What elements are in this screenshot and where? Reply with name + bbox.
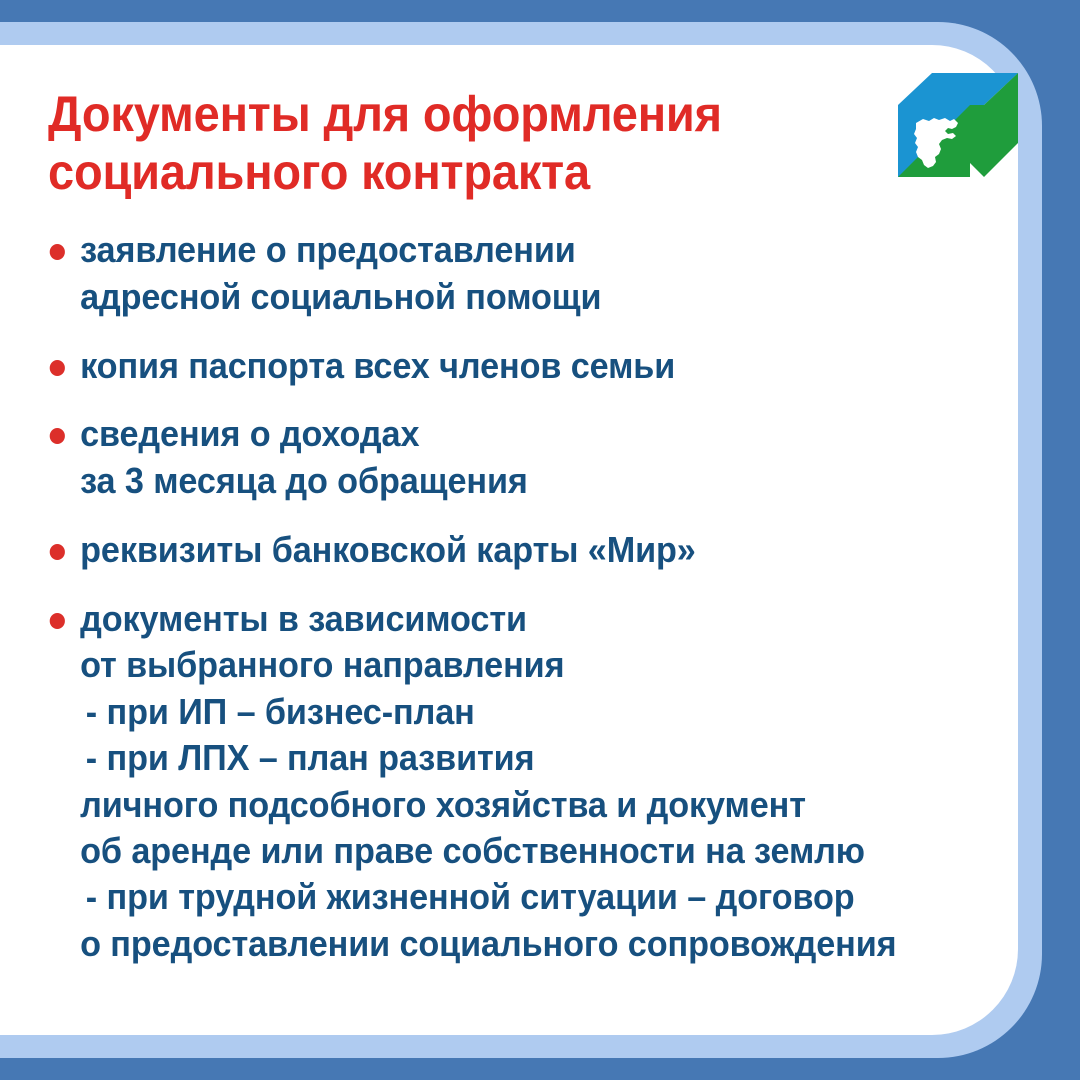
list-item: заявление о предоставлении адресной соци… [44, 227, 1005, 321]
bullet-dot-icon [50, 544, 65, 560]
bullet-dot-icon [50, 244, 65, 260]
list-item-line: адресной социальной помощи [80, 274, 1005, 321]
bullet-dot-icon [50, 613, 65, 629]
bullet-dot-icon [50, 360, 65, 376]
list-item-line: за 3 месяца до обращения [80, 458, 1005, 505]
list-item-line: от выбранного направления [80, 642, 1005, 688]
bullet-dot-icon [50, 428, 65, 444]
poster-content: Документы для оформления социального кон… [0, 45, 1080, 1035]
cube-map-logo [892, 61, 1032, 201]
list-item-subline: - при трудной жизненной ситуации – догов… [80, 874, 1005, 920]
list-item-subline: - при ЛПХ – план развития [80, 735, 1005, 781]
list-item-line: копия паспорта всех членов семьи [80, 343, 1005, 390]
title-line-2: социального контракта [48, 143, 791, 201]
list-item-line: реквизиты банковской карты «Мир» [80, 527, 1005, 574]
list-item: сведения о доходах за 3 месяца до обраще… [44, 411, 1005, 505]
list-item-line: об аренде или праве собственности на зем… [80, 828, 1005, 874]
list-item: документы в зависимости от выбранного на… [44, 596, 1005, 968]
page-title: Документы для оформления социального кон… [48, 85, 791, 201]
list-item-subline: - при ИП – бизнес-план [80, 689, 1005, 735]
list-item-line: о предоставлении социального сопровожден… [80, 921, 1005, 967]
list-item-line: сведения о доходах [80, 411, 1005, 458]
poster-root: Документы для оформления социального кон… [0, 0, 1080, 1080]
list-item-line: заявление о предоставлении [80, 227, 1005, 274]
documents-list: заявление о предоставлении адресной соци… [44, 227, 1056, 967]
list-item: реквизиты банковской карты «Мир» [44, 527, 1005, 574]
list-item-line: личного подсобного хозяйства и документ [80, 782, 1005, 828]
list-item: копия паспорта всех членов семьи [44, 343, 1005, 390]
list-item-line: документы в зависимости [80, 596, 1005, 642]
title-line-1: Документы для оформления [48, 85, 791, 143]
